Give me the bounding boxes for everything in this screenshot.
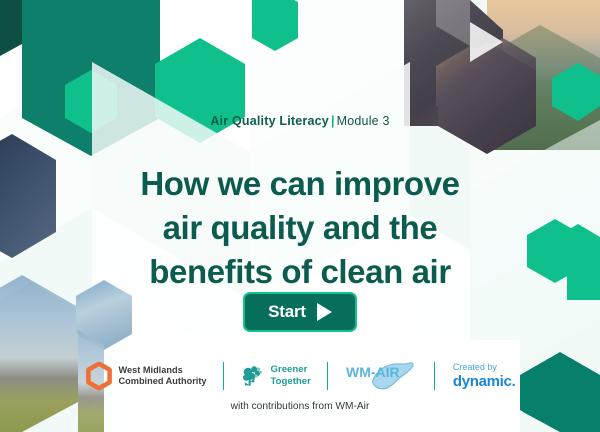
logo-divider-1 [223, 362, 224, 390]
slide-content: Air Quality Literacy|Module 3 How we can… [0, 0, 600, 432]
logo-west-midlands-combined-authority: West Midlands Combined Authority [85, 355, 207, 397]
wmca-line-2: Combined Authority [119, 376, 207, 387]
logo-wm-air: WM-AIR [344, 355, 418, 397]
title-line-3: benefits of clean air [149, 253, 451, 290]
hexagon-ring-icon [85, 362, 113, 390]
wm-air-logo: WM-AIR [344, 358, 418, 394]
greener-line-1: Greener [271, 364, 311, 376]
logo-divider-2 [327, 362, 328, 390]
logo-greener-together: Greener Together [240, 355, 311, 397]
module-name: Module 3 [337, 114, 390, 128]
dynamic-wordmark: dynamic. [453, 373, 516, 390]
logo-divider-3 [434, 362, 435, 390]
wmca-line-1: West Midlands [119, 365, 207, 376]
slide-root: Air Quality Literacy|Module 3 How we can… [0, 0, 600, 432]
page-title: How we can improve air quality and the b… [0, 162, 600, 294]
greener-line-2: Together [271, 376, 311, 388]
title-line-2: air quality and the [163, 209, 438, 246]
eyebrow-separator: | [329, 114, 337, 128]
greener-together-wordmark: Greener Together [271, 364, 311, 387]
partner-logo-bar: West Midlands Combined Authority [0, 355, 600, 397]
leaf-cluster-icon [240, 363, 266, 389]
wm-air-wordmark: WM-AIR [346, 364, 400, 380]
start-button[interactable]: Start [243, 292, 357, 332]
eyebrow-text: Air Quality Literacy|Module 3 [0, 114, 600, 128]
play-triangle-icon [317, 303, 332, 321]
logo-dynamic: Created by dynamic. [453, 355, 516, 397]
course-name: Air Quality Literacy [210, 114, 329, 128]
created-by-label: Created by [453, 362, 516, 373]
contributions-note: with contributions from WM-Air [0, 401, 600, 412]
title-line-1: How we can improve [140, 165, 459, 202]
wmca-wordmark: West Midlands Combined Authority [119, 365, 207, 388]
start-button-label: Start [268, 302, 306, 322]
